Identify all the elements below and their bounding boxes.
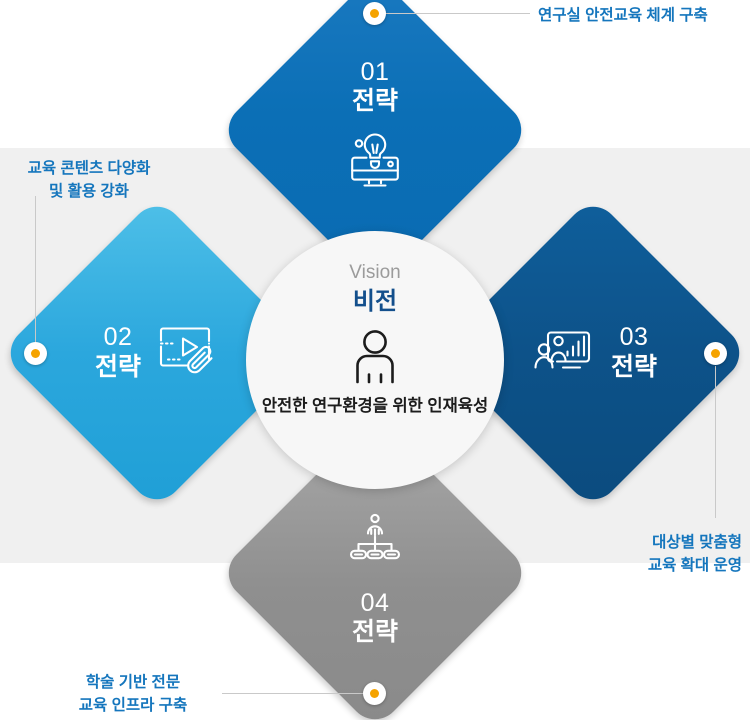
dot-center-03 [711, 349, 720, 358]
connector-line-02 [35, 196, 36, 348]
connector-line-04 [222, 693, 367, 694]
connector-line-03 [715, 366, 716, 518]
vision-ko-label: 비전 [353, 286, 397, 318]
strategy-caption-02: 교육 콘텐츠 다양화 및 활용 강화 [8, 157, 170, 204]
vision-description: 안전한 연구환경을 위한 인재육성 [262, 395, 488, 417]
strategy-caption-03: 대상별 맞춤형 교육 확대 운영 [580, 531, 742, 578]
infographic-diagram: 01 전략 02 전략 [0, 0, 750, 720]
connector-dot-03 [704, 342, 727, 365]
dot-center-04 [370, 689, 379, 698]
strategy-caption-01: 연구실 안전교육 체계 구축 [538, 4, 748, 27]
vision-en-label: Vision [349, 263, 400, 284]
connector-dot-02 [24, 342, 47, 365]
connector-dot-01 [363, 2, 386, 25]
connector-dot-04 [363, 682, 386, 705]
dot-center-01 [370, 9, 379, 18]
strategy-caption-04: 학술 기반 전문 교육 인프라 구축 [52, 671, 214, 718]
dot-center-02 [31, 349, 40, 358]
vision-circle: Vision 비전 안전한 연구환경을 위한 인재육성 [246, 231, 504, 489]
connector-line-01 [385, 13, 530, 14]
person-icon [350, 328, 400, 389]
